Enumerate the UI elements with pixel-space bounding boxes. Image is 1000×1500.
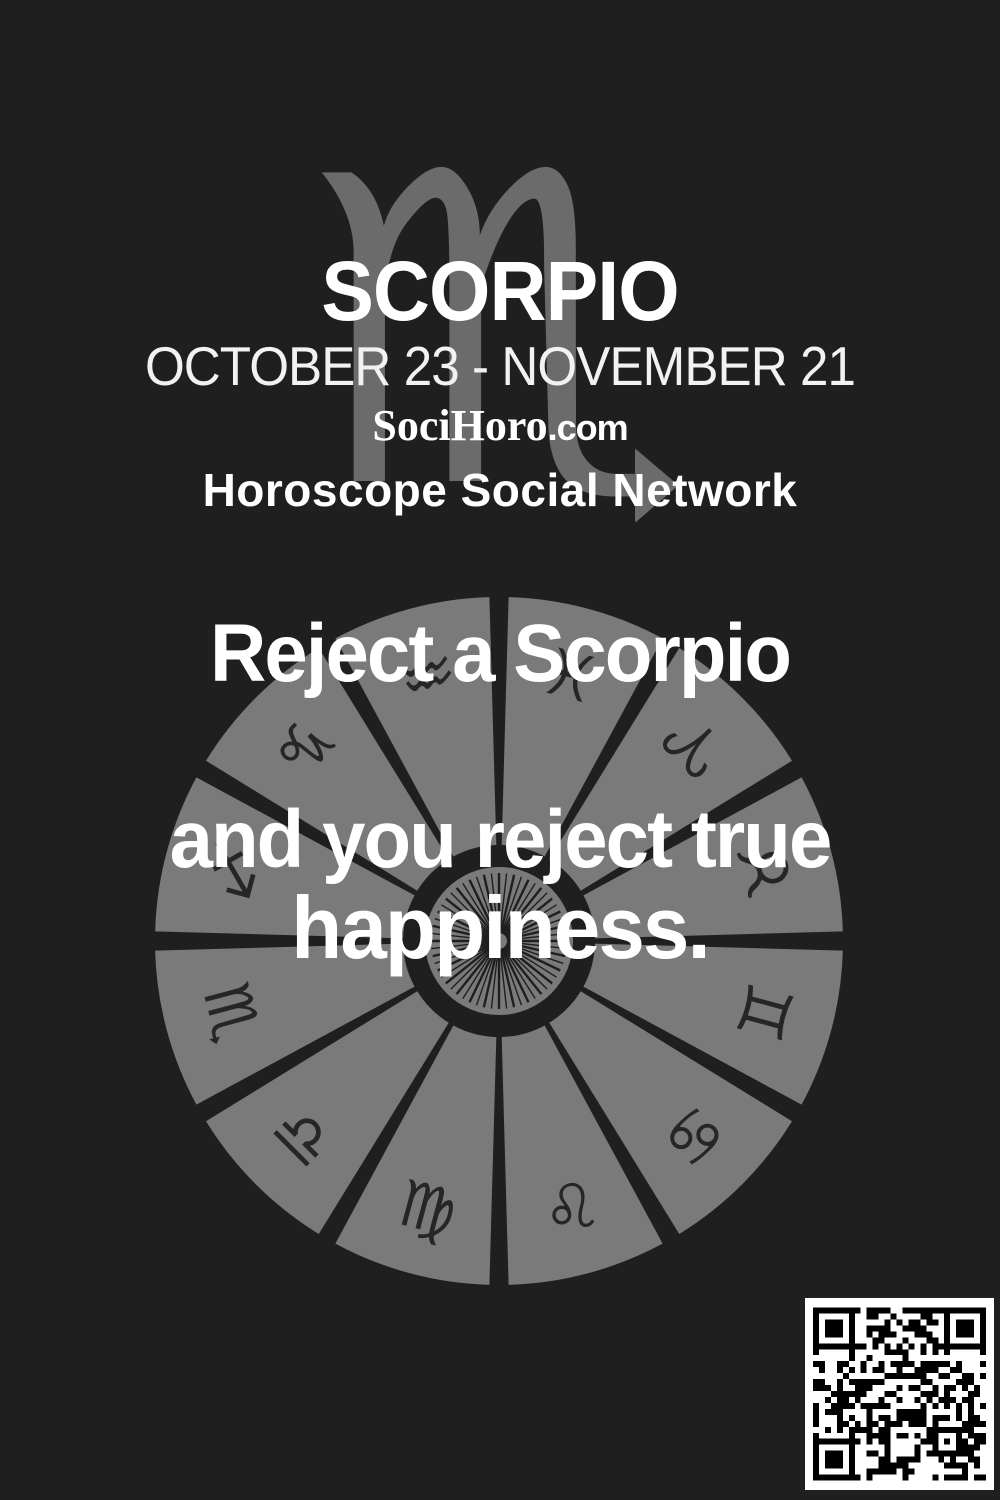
poster-canvas: ♏ ♐♏♎♍♌♋♊♉♈♓♒♑ SCORPIO OCTOBER 23 - NOVE… <box>0 0 1000 1500</box>
qr-code[interactable] <box>795 1290 1000 1500</box>
date-range: OCTOBER 23 - NOVEMBER 21 <box>35 336 965 396</box>
brand-name: SociHoro <box>372 401 547 450</box>
quote-line-2: and you reject true <box>25 796 975 884</box>
brand-wordmark[interactable]: SociHoro.com <box>0 402 1000 460</box>
brand-tld: .com <box>548 407 628 448</box>
qr-code-surface <box>805 1298 994 1490</box>
header-block: SCORPIO OCTOBER 23 - NOVEMBER 21 SociHor… <box>0 250 1000 516</box>
page-title: SCORPIO <box>30 250 970 332</box>
quote-line-3: happiness. <box>25 884 975 972</box>
qr-code-icon <box>813 1306 986 1482</box>
quote-line-1: Reject a Scorpio <box>25 610 975 698</box>
quote-block: Reject a Scorpio and you reject true hap… <box>0 610 1000 972</box>
tagline: Horoscope Social Network <box>0 464 1000 516</box>
